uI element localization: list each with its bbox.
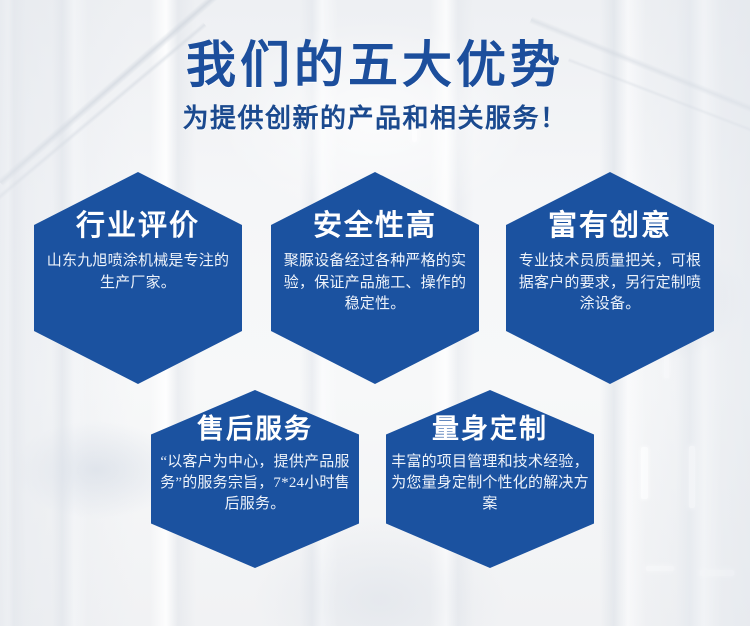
advantage-card-after-sales-service[interactable]: 售后服务 “以客户为中心，提供产品服务”的服务宗旨，7*24小时售后服务。 [151, 390, 359, 568]
advantage-title: 行业评价 [76, 210, 200, 242]
advantage-description: “以客户为中心，提供产品服务”的服务宗旨，7*24小时售后服务。 [156, 452, 354, 514]
advantage-title: 售后服务 [197, 414, 313, 444]
advantages-poster: 我们的五大优势 为提供创新的产品和相关服务！ 行业评价 山东九旭喷涂机械是专注的… [0, 0, 750, 626]
page-subtitle: 为提供创新的产品和相关服务！ [0, 104, 750, 133]
advantage-title: 量身定制 [432, 414, 548, 444]
advantage-card-industry-rating[interactable]: 行业评价 山东九旭喷涂机械是专注的生产厂家。 [34, 172, 242, 384]
page-title: 我们的五大优势 [0, 38, 750, 92]
advantage-card-creative[interactable]: 富有创意 专业技术员质量把关，可根据客户的要求，另行定制喷涂设备。 [506, 172, 714, 384]
advantage-card-high-safety[interactable]: 安全性高 聚脲设备经过各种严格的实验，保证产品施工、操作的稳定性。 [271, 172, 479, 384]
heading-block: 我们的五大优势 为提供创新的产品和相关服务！ [0, 38, 750, 133]
advantage-card-tailored-customization[interactable]: 量身定制 丰富的项目管理和技术经验，为您量身定制个性化的解决方案 [386, 390, 594, 568]
advantage-title: 富有创意 [548, 210, 672, 242]
advantage-title: 安全性高 [313, 210, 437, 242]
advantage-description: 山东九旭喷涂机械是专注的生产厂家。 [40, 251, 236, 294]
advantage-description: 专业技术员质量把关，可根据客户的要求，另行定制喷涂设备。 [512, 251, 708, 315]
advantage-description: 丰富的项目管理和技术经验，为您量身定制个性化的解决方案 [391, 452, 589, 514]
advantage-description: 聚脲设备经过各种严格的实验，保证产品施工、操作的稳定性。 [277, 251, 473, 315]
